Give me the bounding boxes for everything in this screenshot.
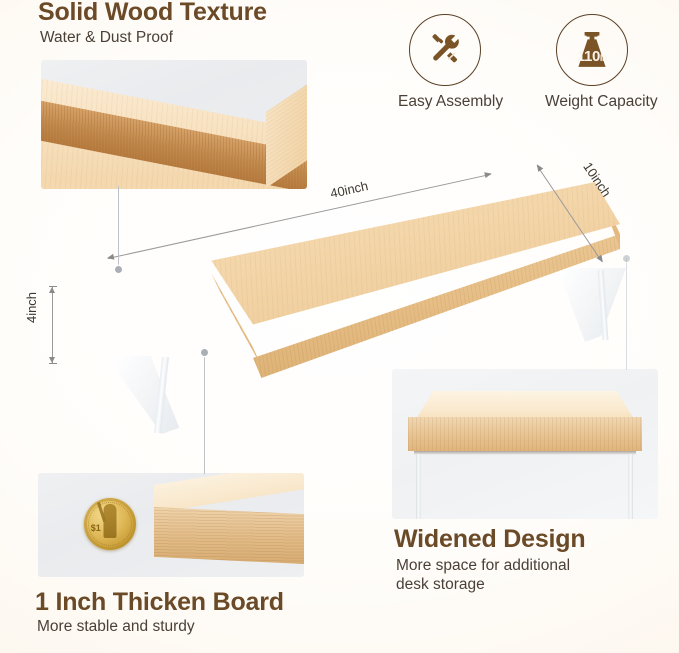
arrow-head-up (49, 287, 55, 293)
shelf-leg-left (416, 454, 421, 519)
shelf-leg-right-bracket (560, 268, 626, 342)
weight-unit: lb (600, 53, 607, 63)
board-thickness-face (154, 507, 304, 565)
badge-ring: 110lb (556, 14, 628, 86)
leader-line-widened-design (626, 258, 627, 370)
solid-wood-title: Solid Wood Texture (38, 0, 267, 27)
dimension-line-height (52, 286, 53, 364)
arrow-head-down (49, 357, 55, 363)
weight-value: 110 (577, 48, 600, 65)
coin-statue-figure (104, 504, 117, 538)
badge-weight-capacity: 110lb Weight Capacity (545, 14, 639, 111)
thicken-board-title: 1 Inch Thicken Board (35, 588, 284, 617)
shelf-under-shadow (414, 451, 636, 455)
thicken-board-photo-panel: $1 (38, 473, 304, 577)
shelf-leg-right (628, 454, 633, 519)
board-top-surface (154, 473, 304, 513)
widened-design-subtitle: More space for additional desk storage (396, 556, 570, 594)
badge-label: Easy Assembly (398, 93, 492, 111)
shelf-leg-left-bracket (114, 356, 182, 434)
leader-line-thicken-board (204, 352, 205, 474)
widened-design-title: Widened Design (394, 525, 585, 554)
solid-wood-subtitle: Water & Dust Proof (40, 29, 173, 47)
product-illustration (48, 160, 648, 440)
badge-ring (409, 14, 481, 86)
leader-dot-thicken-board (201, 349, 208, 356)
leader-dot-solid-wood (115, 266, 122, 273)
leader-line-solid-wood (118, 186, 119, 270)
dollar-coin: $1 (84, 498, 136, 550)
badge-easy-assembly: Easy Assembly (398, 14, 492, 111)
leader-dot-widened-design (623, 255, 630, 262)
thicken-board-subtitle: More stable and sturdy (37, 618, 195, 636)
weight-icon: 110lb (569, 29, 615, 71)
tick-bottom (49, 363, 57, 364)
wrench-screwdriver-icon (423, 26, 467, 75)
coin-denomination: $1 (91, 523, 101, 533)
dimension-label-height: 4inch (24, 292, 39, 323)
badge-label: Weight Capacity (545, 93, 639, 111)
